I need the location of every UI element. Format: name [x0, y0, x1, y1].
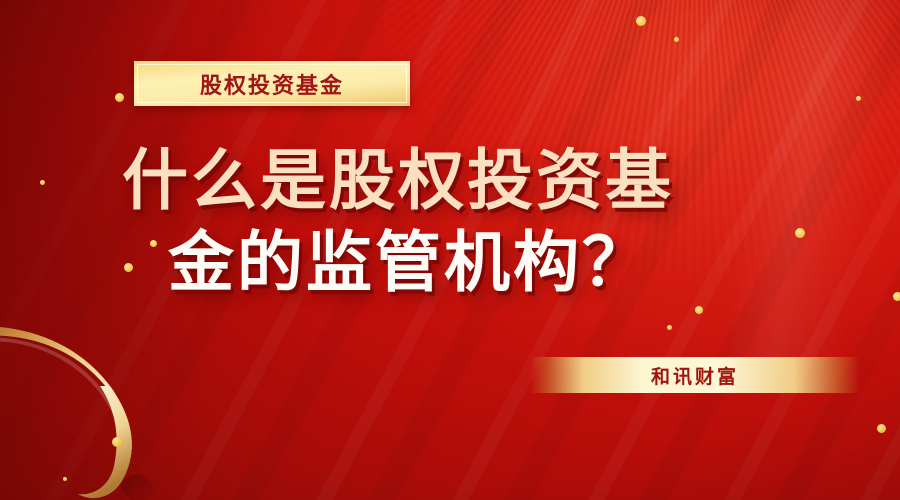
gold-particle — [667, 325, 672, 330]
brand-badge: 和讯财富 — [530, 357, 860, 393]
headline-block: 什么是股权投资基 金的监管机构？ — [0, 140, 900, 304]
category-badge-label: 股权投资基金 — [200, 68, 344, 100]
headline-line-2: 金的监管机构？ — [168, 222, 900, 304]
category-badge: 股权投资基金 — [134, 61, 410, 106]
headline-line-1: 什么是股权投资基 — [122, 140, 900, 222]
gold-particle — [856, 96, 861, 101]
gold-particle — [63, 477, 67, 481]
brand-badge-label: 和讯财富 — [651, 362, 739, 389]
poster-canvas: 股权投资基金 什么是股权投资基 金的监管机构？ 和讯财富 — [0, 0, 900, 500]
gold-particle — [636, 16, 646, 26]
gold-particle — [115, 93, 124, 102]
gold-particle — [695, 306, 703, 314]
gold-particle — [877, 424, 886, 433]
gold-particle — [112, 437, 122, 447]
gold-particle — [674, 37, 679, 42]
